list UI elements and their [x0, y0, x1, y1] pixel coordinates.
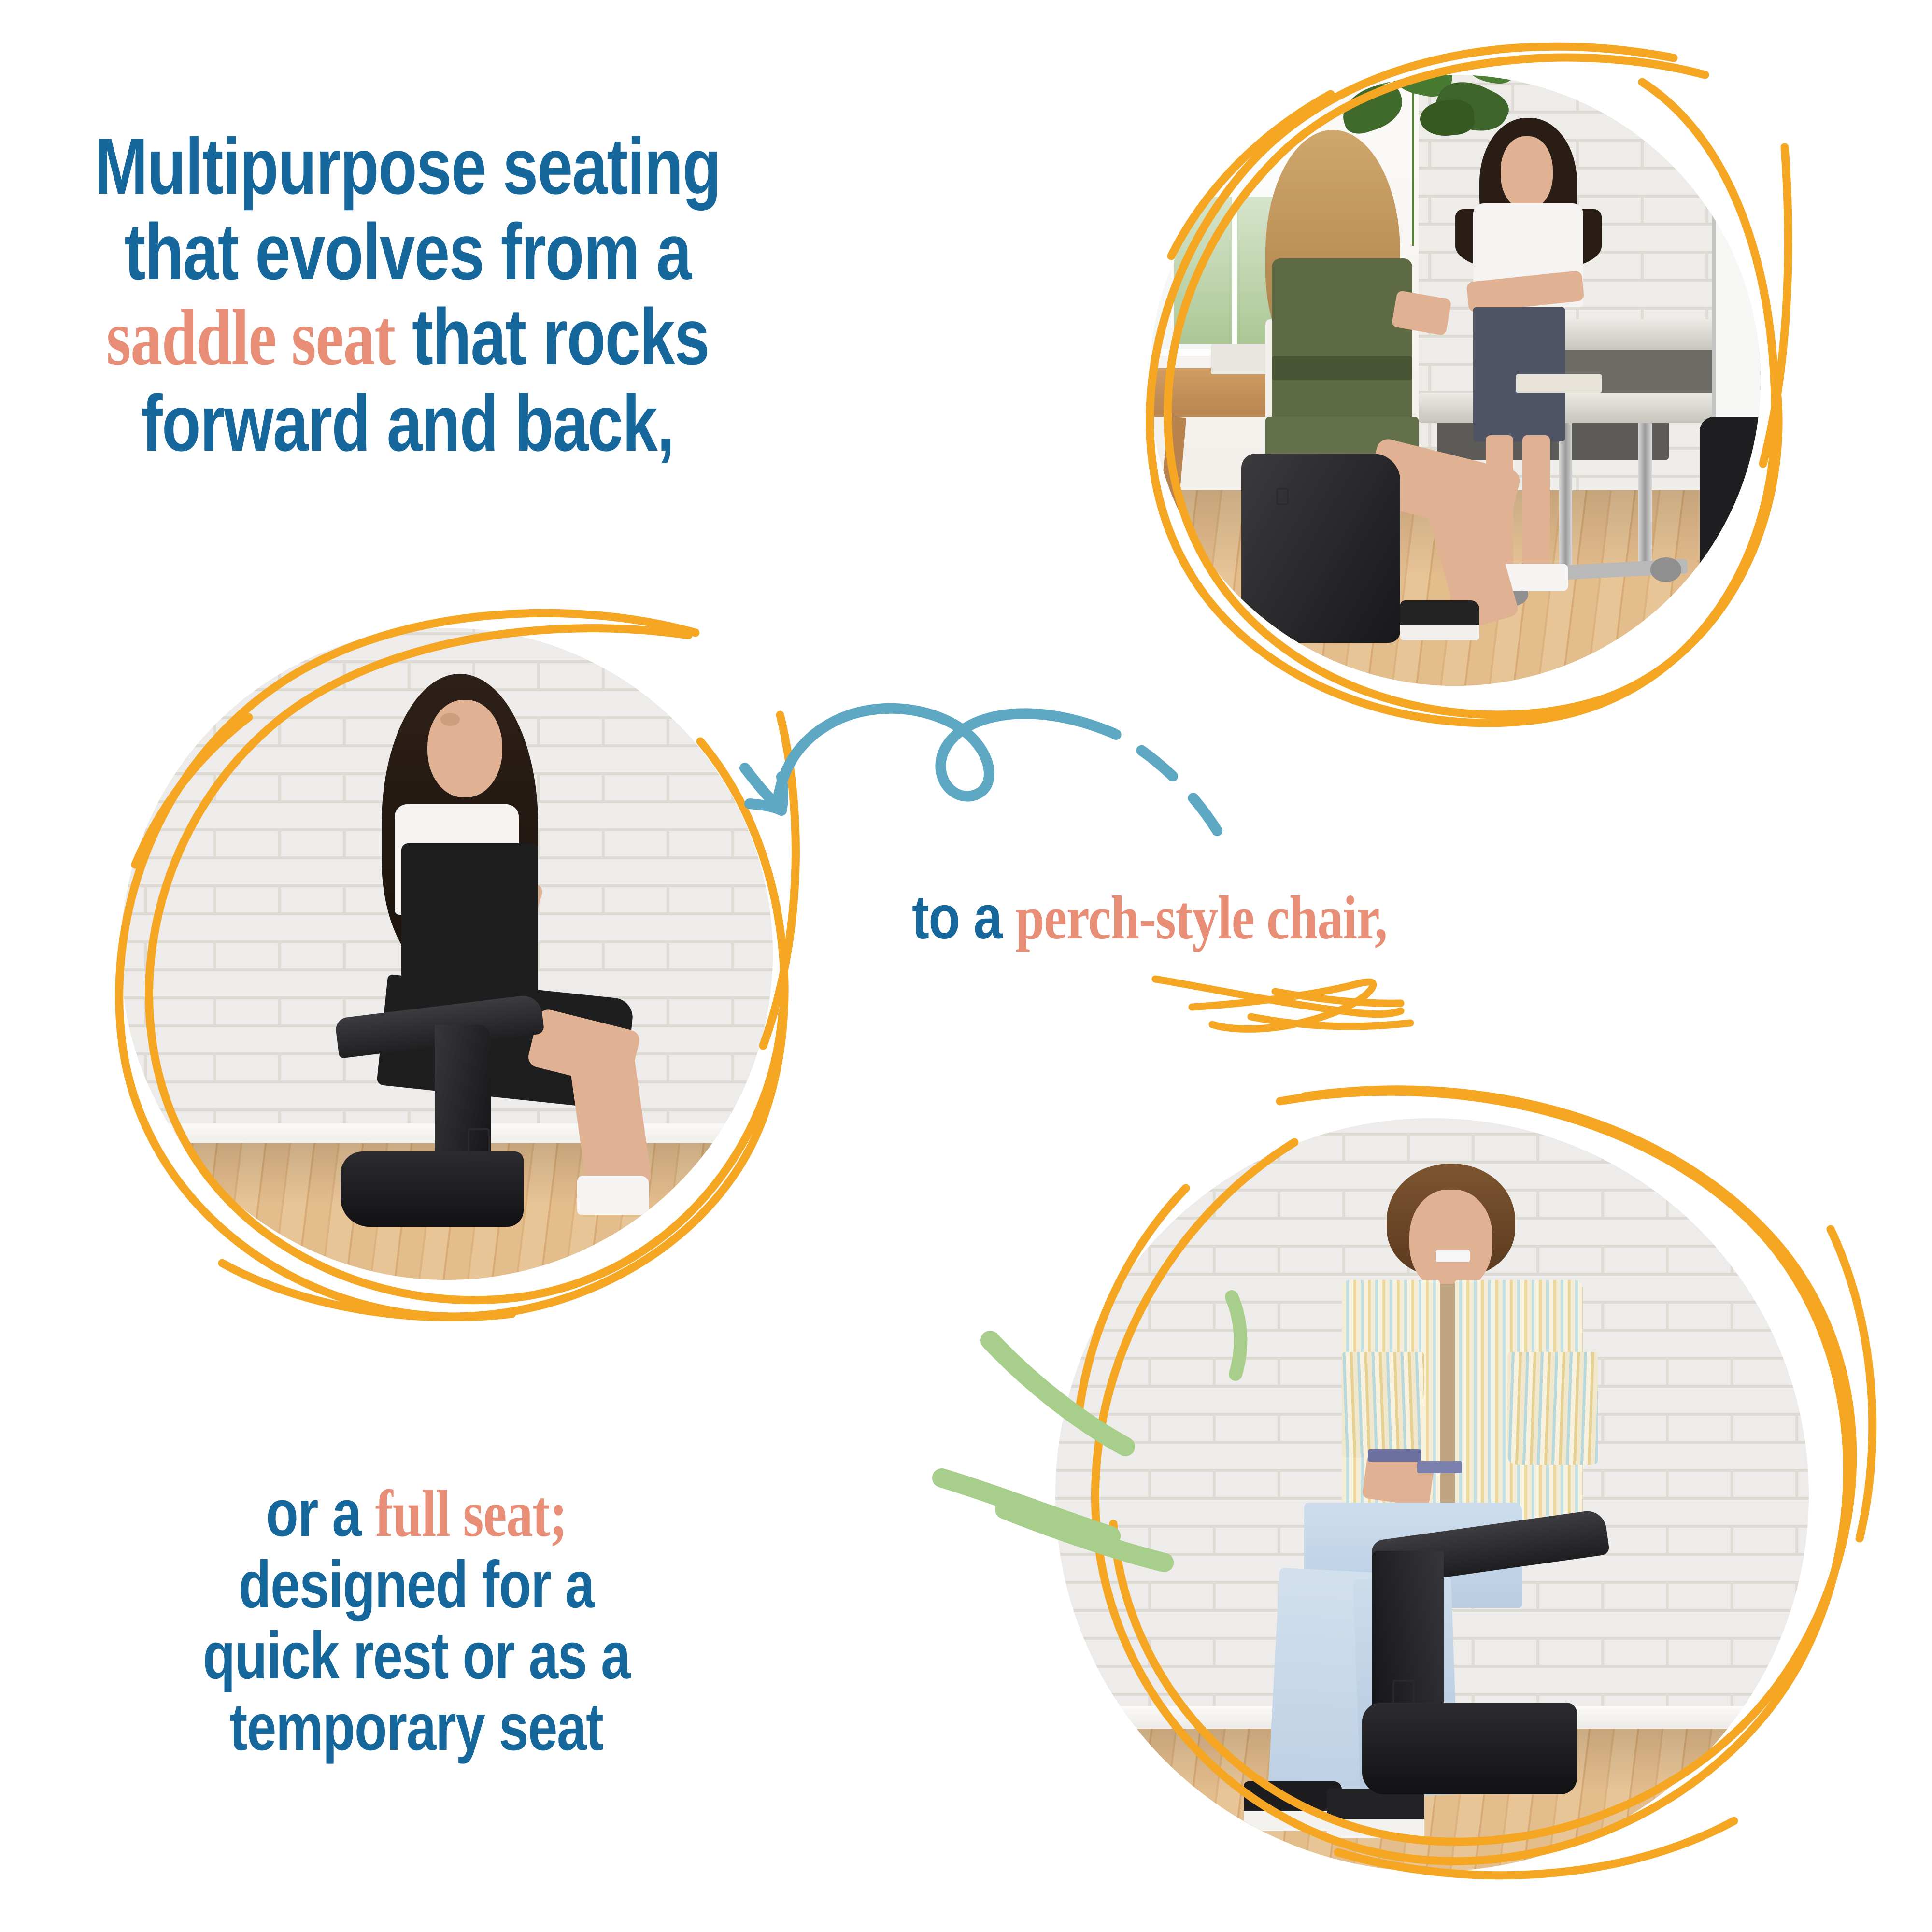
caption-full-line-3: quick rest or as a: [159, 1620, 673, 1692]
headline: Multipurpose seating that evolves from a…: [95, 124, 721, 466]
caption-full-line-2: designed for a: [159, 1549, 673, 1621]
orange-underline-squiggle: [1130, 959, 1430, 1041]
caption-full-accent: full seat;: [375, 1477, 567, 1550]
caption-full-line-4: temporary seat: [159, 1692, 673, 1763]
photo-girl-saddle-seat: [121, 628, 773, 1280]
headline-accent-saddle-seat: saddle seat: [106, 293, 395, 382]
headline-line-2: that evolves from a: [95, 209, 721, 295]
photo-classroom-desks: [1150, 75, 1761, 686]
caption-perch-style: to a perch-style chair,: [912, 885, 1387, 951]
caption-perch-prefix: to a: [912, 883, 1016, 952]
caption-perch-accent: perch-style chair,: [1016, 883, 1387, 952]
headline-line-4: forward and back,: [95, 381, 721, 466]
photo-boy-full-seat: [1055, 1118, 1809, 1872]
caption-full-seat: or a full seat; designed for a quick res…: [159, 1478, 673, 1763]
headline-line-3: saddle seat that rocks: [95, 294, 721, 381]
headline-line-3-rest: that rocks: [395, 292, 709, 381]
caption-full-line-1: or a full seat;: [159, 1478, 673, 1549]
infographic-canvas: Multipurpose seating that evolves from a…: [0, 0, 1932, 1932]
caption-full-prefix: or a: [266, 1476, 375, 1550]
headline-line-1: Multipurpose seating: [95, 124, 721, 209]
